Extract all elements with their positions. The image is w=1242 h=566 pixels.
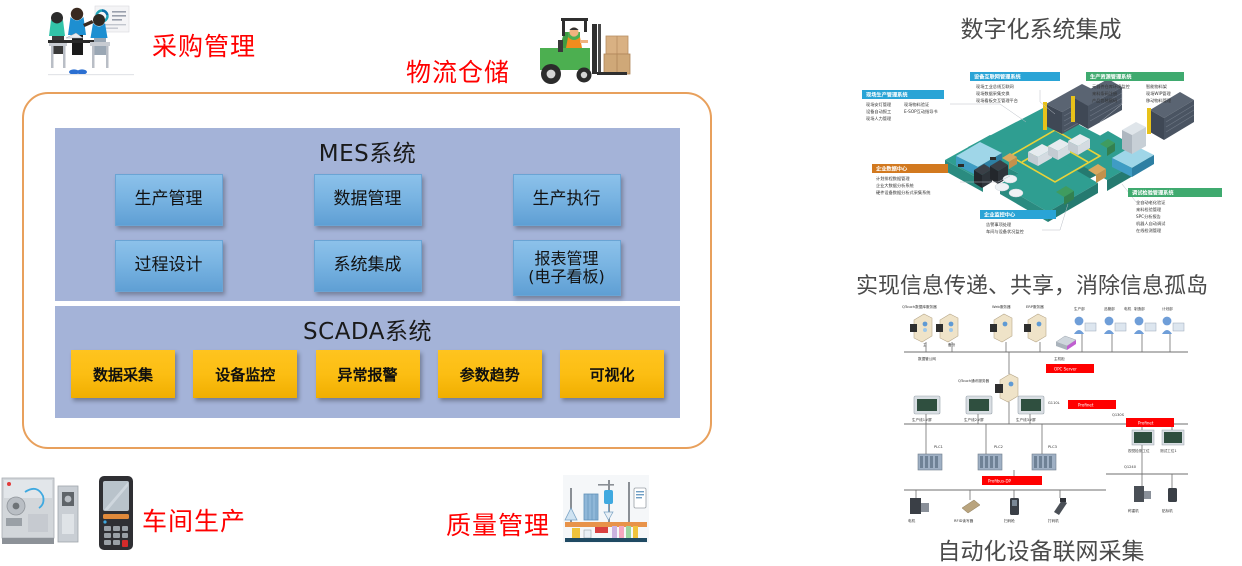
- svg-text:计划部: 计划部: [1162, 306, 1173, 311]
- svg-text:扫码枪: 扫码枪: [1004, 518, 1015, 523]
- svg-text:设备自动报工: 设备自动报工: [866, 108, 891, 115]
- svg-text:测试工位1: 测试工位1: [1160, 448, 1177, 453]
- svg-text:品管部: 品管部: [1104, 306, 1115, 311]
- svg-text:计划排程数据管理: 计划排程数据管理: [876, 175, 910, 182]
- svg-text:现场人力管理: 现场人力管理: [866, 115, 892, 122]
- svg-text:机器人自动调试: 机器人自动调试: [1136, 220, 1166, 227]
- automation-network-topology-diagram: QTouch数据库服务器 Web服务器 ERP服务器 主 备份 生产部 品管部 …: [896, 300, 1196, 530]
- svg-text:贴标机: 贴标机: [1162, 508, 1173, 513]
- right-illustration-pane: 数字化系统集成: [840, 0, 1242, 561]
- scada-module-row: 数据采集 设备监控 异常报警 参数趋势 可视化: [55, 346, 680, 398]
- svg-text:G110L: G110L: [1048, 401, 1060, 405]
- svg-text:车间与设备状况监控: 车间与设备状况监控: [986, 228, 1025, 235]
- scada-module-parameter-trend[interactable]: 参数趋势: [438, 350, 542, 398]
- laboratory-illustration: [562, 474, 650, 544]
- caption-title: 现场生产管理系统: [866, 91, 908, 99]
- mes-module-report-management[interactable]: 报表管理 (电子看板): [513, 240, 621, 296]
- svg-text:在线检测管理: 在线检测管理: [1136, 227, 1162, 234]
- svg-text:Q1240: Q1240: [1124, 465, 1137, 469]
- svg-text:来料条码注册: 来料条码注册: [1092, 90, 1117, 97]
- svg-text:生产线1#屏: 生产线1#屏: [912, 417, 932, 422]
- svg-text:SPC分析报告: SPC分析报告: [1136, 213, 1161, 220]
- svg-text:主: 主: [923, 342, 927, 347]
- heading-information-sharing: 实现信息传递、共享，消除信息孤岛: [822, 268, 1242, 300]
- scada-panel-title: SCADA系统: [55, 306, 680, 346]
- svg-text:移动物料管理: 移动物料管理: [1146, 97, 1172, 104]
- svg-text:打码机: 打码机: [1048, 518, 1059, 523]
- mes-module-system-integration[interactable]: 系统集成: [314, 240, 422, 292]
- left-architecture-pane: 采购管理 物流仓储: [0, 0, 740, 561]
- svg-text:Web服务器: Web服务器: [992, 304, 1011, 309]
- svg-text:智能物料架: 智能物料架: [1146, 83, 1167, 90]
- caption-title: 设备互联网管理系统: [974, 73, 1022, 81]
- svg-text:ERP服务器: ERP服务器: [1026, 304, 1044, 309]
- svg-text:Profinet: Profinet: [1078, 403, 1094, 408]
- svg-text:生产线3#屏: 生产线3#屏: [1016, 417, 1036, 422]
- handheld-pda-illustration: [95, 474, 137, 552]
- production-machine-illustration: [0, 470, 82, 548]
- red-tag-opc-server: OPC Server: [1054, 367, 1077, 372]
- scada-module-visualization[interactable]: 可视化: [560, 350, 664, 398]
- svg-text:电机: 电机: [908, 518, 916, 523]
- mes-module-process-design[interactable]: 过程设计: [115, 240, 223, 292]
- svg-text:Profinet: Profinet: [1138, 421, 1154, 426]
- svg-text:RFID读写器: RFID读写器: [954, 518, 974, 523]
- svg-text:企业大数据分析系统: 企业大数据分析系统: [876, 182, 914, 189]
- caption-title: 企业监控中心: [983, 211, 1016, 219]
- svg-text:E-SOP互动指导书: E-SOP互动指导书: [904, 108, 938, 115]
- callout-label-logistics: 物流仓储: [406, 53, 510, 89]
- scada-module-data-acquisition[interactable]: 数据采集: [71, 350, 175, 398]
- caption-title: 调试检验管理系统: [1132, 189, 1174, 197]
- svg-text:生产部: 生产部: [1074, 306, 1085, 311]
- svg-text:现场安灯管理: 现场安灯管理: [866, 101, 892, 108]
- svg-text:数据管公网: 数据管公网: [918, 356, 936, 361]
- mes-module-data-management[interactable]: 数据管理: [314, 174, 422, 226]
- svg-text:现场物料验证: 现场物料验证: [904, 101, 930, 108]
- svg-text:元器件仓库环境监控: 元器件仓库环境监控: [1092, 83, 1131, 90]
- mes-module-production-execution[interactable]: 生产执行: [513, 174, 621, 226]
- scada-panel: SCADA系统 数据采集 设备监控 异常报警 参数趋势 可视化: [55, 306, 680, 418]
- callout-label-workshop: 车间生产: [142, 502, 246, 538]
- svg-text:主机柜: 主机柜: [1054, 356, 1065, 361]
- svg-text:产品包装赋码: 产品包装赋码: [1092, 97, 1117, 104]
- mes-panel-title: MES系统: [55, 128, 680, 168]
- caption-title: 企业数据中心: [875, 165, 908, 173]
- scada-module-abnormal-alarm[interactable]: 异常报警: [316, 350, 420, 398]
- mes-module-grid: 生产管理 数据管理 生产执行 过程设计 系统集成 报表管理 (电子看板): [55, 168, 680, 296]
- svg-text:电机: 电机: [1124, 306, 1132, 311]
- svg-text:全自动老化验证: 全自动老化验证: [1136, 199, 1166, 206]
- svg-text:现场WIP管理: 现场WIP管理: [1146, 90, 1171, 97]
- red-tag-profibus-dp: Profibus-DP: [988, 479, 1012, 484]
- svg-text:制造部: 制造部: [1134, 306, 1145, 311]
- svg-text:现场工业总线互联网: 现场工业总线互联网: [976, 83, 1014, 90]
- caption-title: 生产资源管理系统: [1090, 73, 1132, 81]
- svg-text:现场数据采集交换: 现场数据采集交换: [976, 90, 1010, 97]
- svg-text:PLC3: PLC3: [1048, 445, 1057, 449]
- digital-factory-isometric-diagram: 现场生产管理系统 现场安灯管理 现场物料验证 设备自动报工 E-SOP互动指导书…: [850, 52, 1240, 252]
- svg-text:称重机: 称重机: [1128, 508, 1139, 513]
- svg-text:生产线2#屏: 生产线2#屏: [964, 417, 984, 422]
- team-meeting-illustration: [40, 2, 148, 80]
- mes-module-production-management[interactable]: 生产管理: [115, 174, 223, 226]
- svg-text:来料检验管理: 来料检验管理: [1136, 206, 1162, 213]
- callout-label-purchasing: 采购管理: [152, 27, 256, 63]
- svg-text:告警事项处理: 告警事项处理: [986, 221, 1012, 228]
- mes-panel: MES系统 生产管理 数据管理 生产执行 过程设计 系统集成 报表管理 (电子看…: [55, 128, 680, 301]
- svg-text:视觉检测工位: 视觉检测工位: [1128, 448, 1150, 453]
- callout-label-quality: 质量管理: [446, 506, 550, 542]
- svg-text:PLC2: PLC2: [994, 445, 1003, 449]
- svg-text:硬件设备数据分析式采集系统: 硬件设备数据分析式采集系统: [876, 189, 930, 196]
- svg-text:现场看板交互管理平台: 现场看板交互管理平台: [976, 97, 1018, 104]
- svg-text:Q130S: Q130S: [1112, 413, 1125, 417]
- svg-text:QTouch数据库服务器: QTouch数据库服务器: [902, 304, 937, 309]
- svg-text:PLC1: PLC1: [934, 445, 943, 449]
- scada-module-equipment-monitoring[interactable]: 设备监控: [193, 350, 297, 398]
- forklift-illustration: [518, 18, 638, 86]
- svg-text:QTouch通讯服务器: QTouch通讯服务器: [958, 378, 990, 383]
- heading-digital-system-integration: 数字化系统集成: [840, 10, 1242, 44]
